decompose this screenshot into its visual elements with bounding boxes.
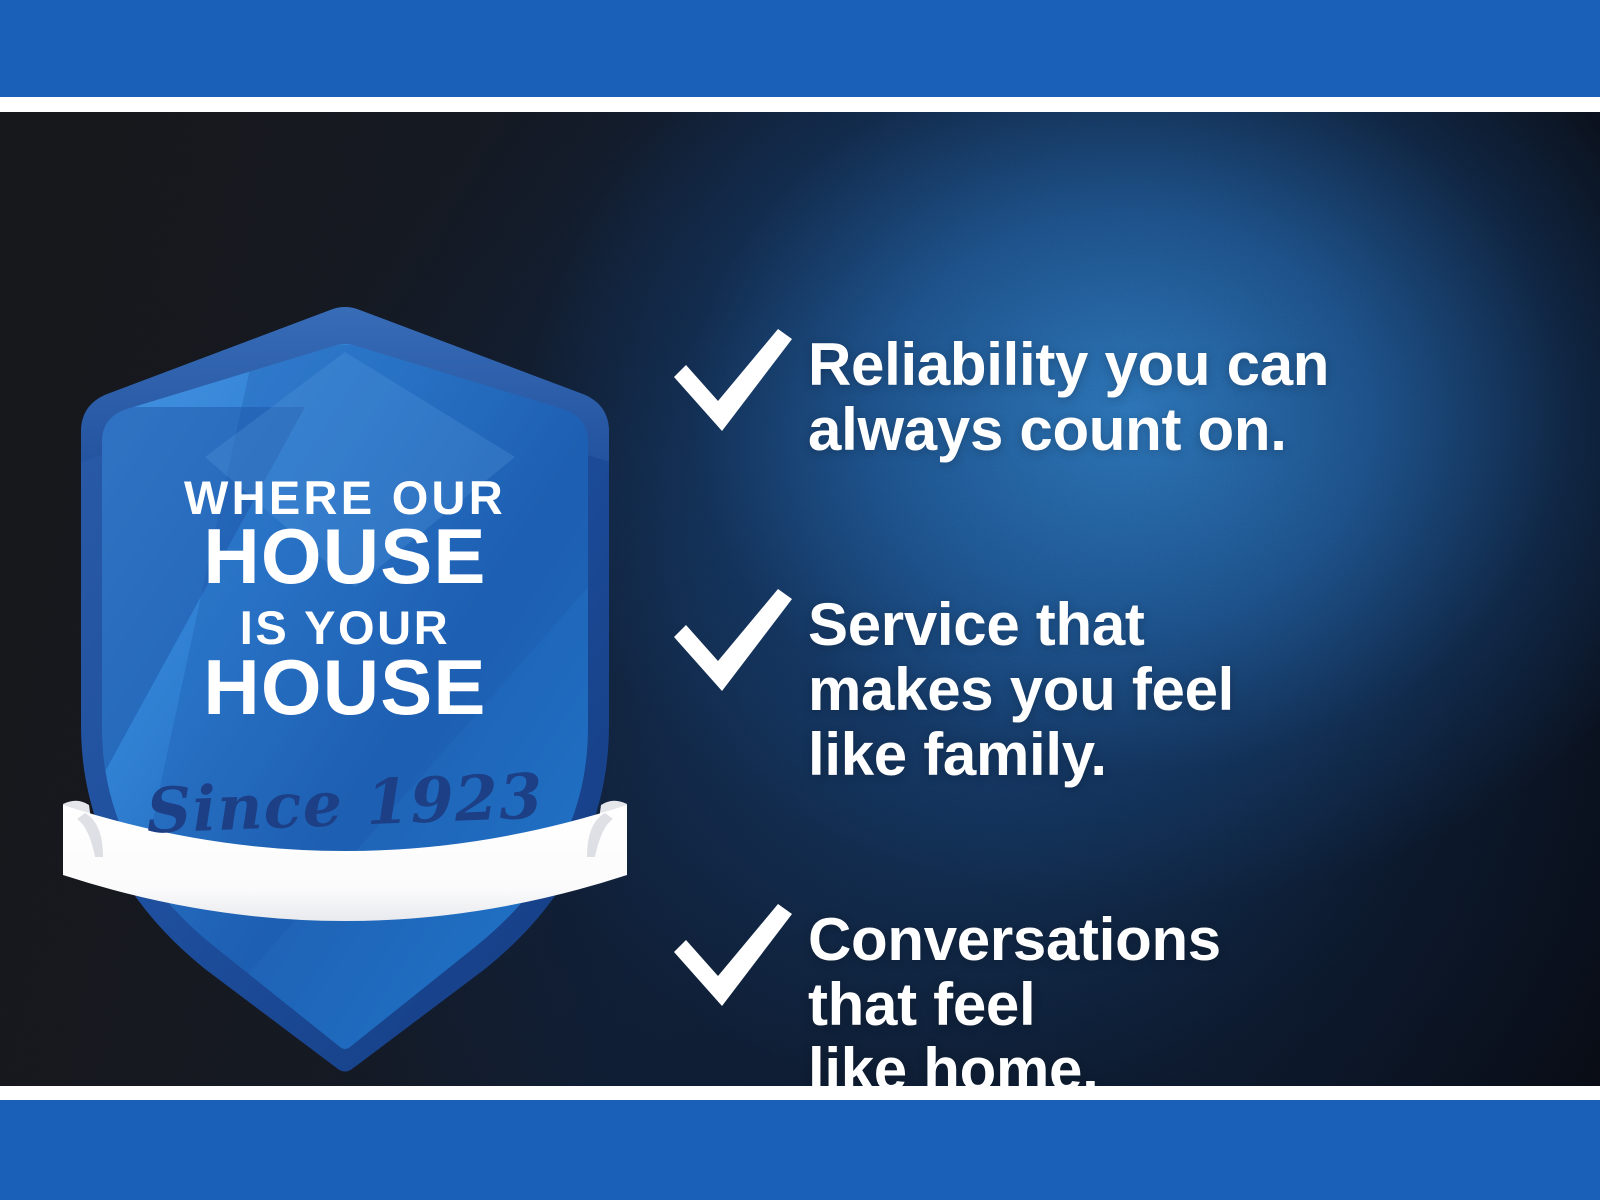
bottom-brand-bar [0, 1100, 1600, 1200]
benefit-text-3: Conversations that feel like home. [808, 894, 1221, 1086]
promo-poster: WHERE OUR HOUSE IS YOUR HOUSE Since 1923… [0, 0, 1600, 1200]
main-stage: WHERE OUR HOUSE IS YOUR HOUSE Since 1923… [0, 112, 1600, 1086]
shield-badge: WHERE OUR HOUSE IS YOUR HOUSE Since 1923 [55, 257, 635, 937]
benefit-text-2: Service that makes you feel like family. [808, 579, 1234, 787]
check-icon [660, 894, 800, 1014]
check-icon [660, 579, 800, 699]
benefit-item-2: Service that makes you feel like family. [660, 579, 1234, 787]
top-white-divider [0, 97, 1600, 112]
top-brand-bar [0, 0, 1600, 97]
benefits-list: Reliability you can always count on. Ser… [660, 224, 1560, 1086]
bottom-white-divider [0, 1086, 1600, 1100]
benefit-item-1: Reliability you can always count on. [660, 319, 1329, 463]
benefit-text-1: Reliability you can always count on. [808, 319, 1329, 463]
benefit-item-3: Conversations that feel like home. [660, 894, 1221, 1086]
check-icon [660, 319, 800, 439]
